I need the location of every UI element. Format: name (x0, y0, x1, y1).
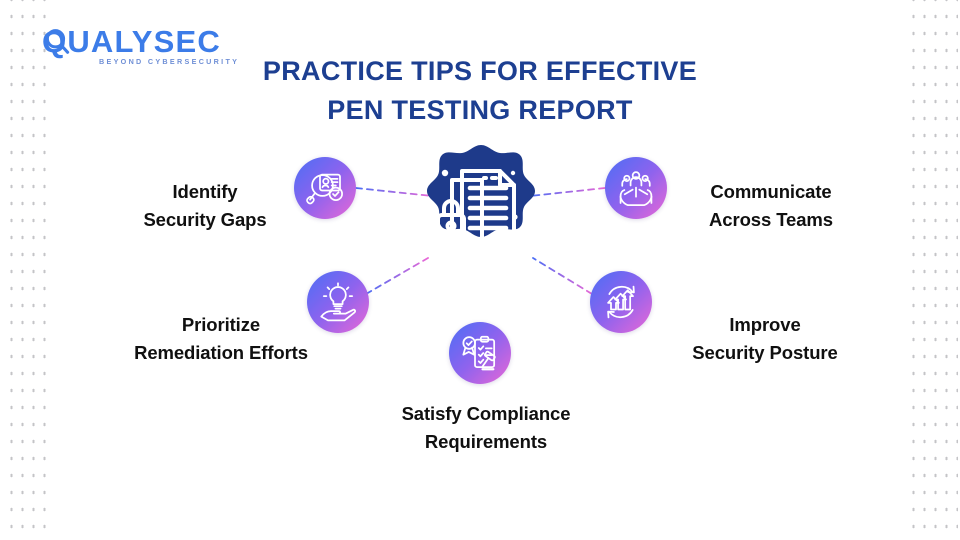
label-identify-line-2: Security Gaps (110, 206, 300, 234)
infographic-canvas: QUALYSEC BEYOND CYBERSECURITY PRACTICE T… (0, 0, 960, 540)
label-prioritize: Prioritize Remediation Efforts (98, 311, 344, 367)
label-prioritize-line-1: Prioritize (98, 311, 344, 339)
locked-document-icon (414, 143, 548, 277)
label-improve: Improve Security Posture (652, 311, 878, 367)
label-communicate: Communicate Across Teams (668, 178, 874, 234)
label-identify-line-1: Identify (110, 178, 300, 206)
hub-and-spoke-diagram: Identify Security Gaps Communicate Acros… (0, 0, 960, 540)
label-identify: Identify Security Gaps (110, 178, 300, 234)
label-compliance-line-2: Requirements (366, 428, 606, 456)
hands-holding-people-icon (616, 168, 656, 208)
label-compliance: Satisfy Compliance Requirements (366, 400, 606, 456)
magnifier-id-check-icon (305, 168, 345, 208)
label-compliance-line-1: Satisfy Compliance (366, 400, 606, 428)
node-improve[interactable] (590, 271, 652, 333)
label-prioritize-line-2: Remediation Efforts (98, 339, 344, 367)
label-improve-line-1: Improve (652, 311, 878, 339)
center-badge (414, 143, 548, 277)
node-compliance[interactable] (449, 322, 511, 384)
node-identify[interactable] (294, 157, 356, 219)
label-communicate-line-1: Communicate (668, 178, 874, 206)
label-communicate-line-2: Across Teams (668, 206, 874, 234)
node-communicate[interactable] (605, 157, 667, 219)
label-improve-line-2: Security Posture (652, 339, 878, 367)
growth-arrows-cycle-icon (601, 282, 641, 322)
clipboard-gavel-award-icon (460, 333, 500, 373)
